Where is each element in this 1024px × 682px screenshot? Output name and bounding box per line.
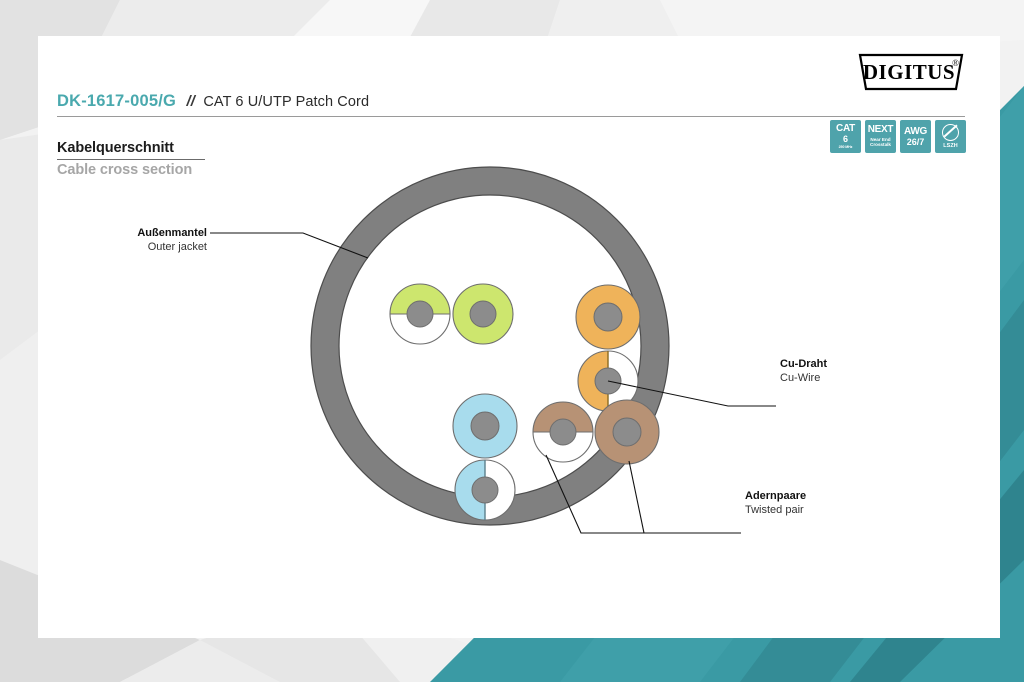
wire-brown-solid bbox=[595, 400, 659, 464]
callout-cu-wire-en: Cu-Wire bbox=[780, 372, 820, 384]
pair-blue bbox=[453, 394, 517, 520]
conductor-green-solid bbox=[470, 301, 496, 327]
wire-blue-striped bbox=[455, 460, 515, 520]
cable-cross-section-diagram: Außenmantel Outer jacket Cu-Draht Cu-Wir… bbox=[38, 36, 1000, 638]
conductor-orange-solid bbox=[594, 303, 622, 331]
wire-blue-solid bbox=[453, 394, 517, 458]
callout-outer-jacket-en: Outer jacket bbox=[148, 241, 207, 253]
callout-twisted-pair-de: Adernpaare bbox=[745, 490, 806, 502]
conductor-blue-striped bbox=[472, 477, 498, 503]
callout-outer-jacket-de: Außenmantel bbox=[137, 227, 207, 239]
callout-cu-wire-de: Cu-Draht bbox=[780, 358, 827, 370]
conductor-brown-striped bbox=[550, 419, 576, 445]
pair-green bbox=[390, 284, 513, 344]
wire-orange-solid bbox=[576, 285, 640, 349]
callout-twisted-pair-en: Twisted pair bbox=[745, 504, 804, 516]
wire-brown-striped bbox=[533, 402, 593, 462]
conductor-green-striped bbox=[407, 301, 433, 327]
wire-green-solid bbox=[453, 284, 513, 344]
leader-twisted-pair-b bbox=[629, 461, 644, 533]
conductor-blue-solid bbox=[471, 412, 499, 440]
pair-orange bbox=[576, 285, 640, 411]
wire-green-striped bbox=[390, 284, 450, 344]
conductor-brown-solid bbox=[613, 418, 641, 446]
